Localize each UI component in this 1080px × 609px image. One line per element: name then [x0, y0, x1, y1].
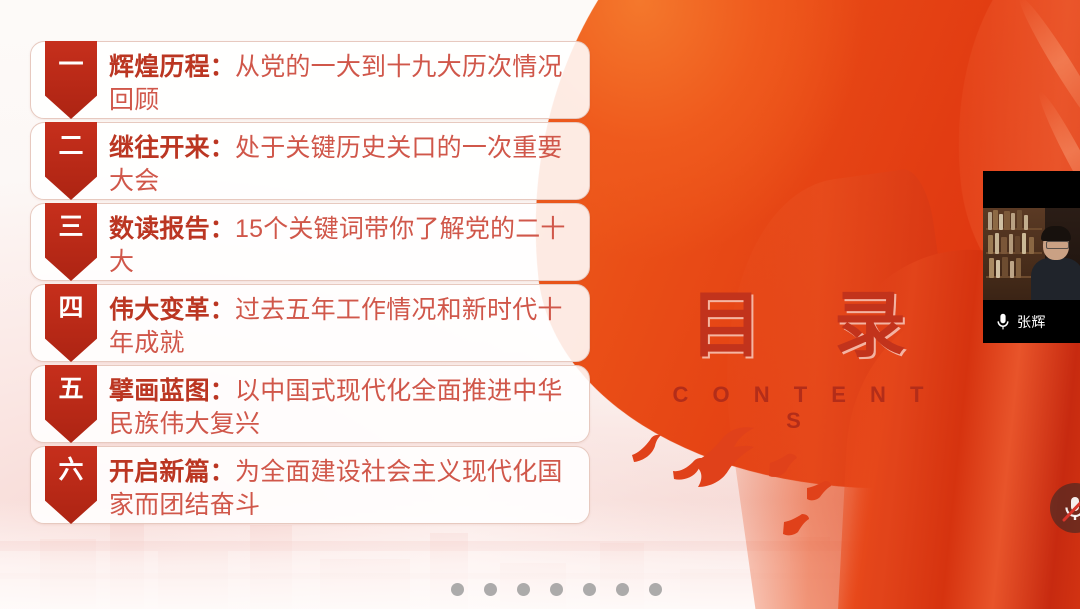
toc-item-text: 辉煌历程：从党的一大到十九大历次情况回顾 — [97, 42, 589, 117]
participant-glasses — [1046, 241, 1069, 249]
dove-icon — [806, 480, 832, 502]
toc-item-number: 二 — [58, 134, 83, 159]
toc-item-title: 开启新篇： — [109, 458, 235, 486]
pager-dot[interactable] — [451, 583, 464, 596]
participant-name-bar: 张辉 — [983, 300, 1080, 343]
participant-body — [1031, 258, 1080, 300]
dove-flock-decoration — [600, 425, 860, 555]
participant-video-feed — [983, 208, 1080, 300]
contents-heading-en: C O N T E N T S — [648, 382, 948, 434]
participant-hair — [1041, 226, 1071, 241]
dove-icon — [768, 453, 798, 479]
dove-icon — [630, 433, 670, 465]
toc-item-title: 辉煌历程： — [109, 53, 235, 81]
toc-item[interactable]: 三 数读报告：15个关键词带你了解党的二十大 — [30, 203, 590, 281]
microphone-muted-icon — [1059, 492, 1080, 524]
toc-item-text: 伟大变革：过去五年工作情况和新时代十年成就 — [97, 285, 589, 360]
toc-item-title: 数读报告： — [109, 215, 235, 243]
toc-item-number: 五 — [58, 377, 83, 402]
pager-dot[interactable] — [517, 583, 530, 596]
presentation-slide-screenshare: 目 录 C O N T E N T S 一 辉煌历程：从党的一大到十九大历次情况… — [0, 0, 1080, 609]
toc-item-number-badge: 一 — [45, 41, 97, 119]
contents-heading-cn: 目 录 — [648, 290, 948, 362]
toc-item-number: 四 — [58, 296, 83, 321]
microphone-icon — [996, 313, 1010, 331]
toc-item-number-badge: 六 — [45, 446, 97, 524]
contents-heading-block: 目 录 C O N T E N T S — [648, 290, 948, 434]
participant-video-tile[interactable]: 张辉 — [983, 171, 1080, 343]
pager-dot[interactable] — [583, 583, 596, 596]
toc-item-text: 开启新篇：为全面建设社会主义现代化国家而团结奋斗 — [97, 447, 589, 522]
toc-item[interactable]: 六 开启新篇：为全面建设社会主义现代化国家而团结奋斗 — [30, 446, 590, 524]
pager-dot[interactable] — [550, 583, 563, 596]
toc-item-number: 一 — [58, 53, 83, 78]
toc-item-number: 三 — [58, 215, 83, 240]
toc-item[interactable]: 四 伟大变革：过去五年工作情况和新时代十年成就 — [30, 284, 590, 362]
toc-item-title: 擘画蓝图： — [109, 377, 235, 405]
toc-item-number-badge: 三 — [45, 203, 97, 281]
toc-item-text: 继往开来：处于关键历史关口的一次重要大会 — [97, 123, 589, 198]
slide-pager-dots[interactable] — [451, 583, 662, 596]
pager-dot[interactable] — [484, 583, 497, 596]
dove-icon — [782, 513, 810, 537]
toc-item-title: 伟大变革： — [109, 296, 235, 324]
toc-item[interactable]: 五 擘画蓝图：以中国式现代化全面推进中华民族伟大复兴 — [30, 365, 590, 443]
pager-dot[interactable] — [616, 583, 629, 596]
toc-item-text: 数读报告：15个关键词带你了解党的二十大 — [97, 204, 589, 279]
participant-name: 张辉 — [1017, 312, 1046, 332]
toc-item-number-badge: 二 — [45, 122, 97, 200]
toc-item-number-badge: 四 — [45, 284, 97, 362]
toc-item[interactable]: 二 继往开来：处于关键历史关口的一次重要大会 — [30, 122, 590, 200]
dove-icon — [688, 425, 764, 491]
table-of-contents-list: 一 辉煌历程：从党的一大到十九大历次情况回顾 二 继往开来：处于关键历史关口的一… — [30, 41, 590, 527]
toc-item[interactable]: 一 辉煌历程：从党的一大到十九大历次情况回顾 — [30, 41, 590, 119]
toc-item-text: 擘画蓝图：以中国式现代化全面推进中华民族伟大复兴 — [97, 366, 589, 441]
toc-item-number-badge: 五 — [45, 365, 97, 443]
toc-item-title: 继往开来： — [109, 134, 235, 162]
pager-dot[interactable] — [649, 583, 662, 596]
toc-item-number: 六 — [58, 458, 83, 483]
